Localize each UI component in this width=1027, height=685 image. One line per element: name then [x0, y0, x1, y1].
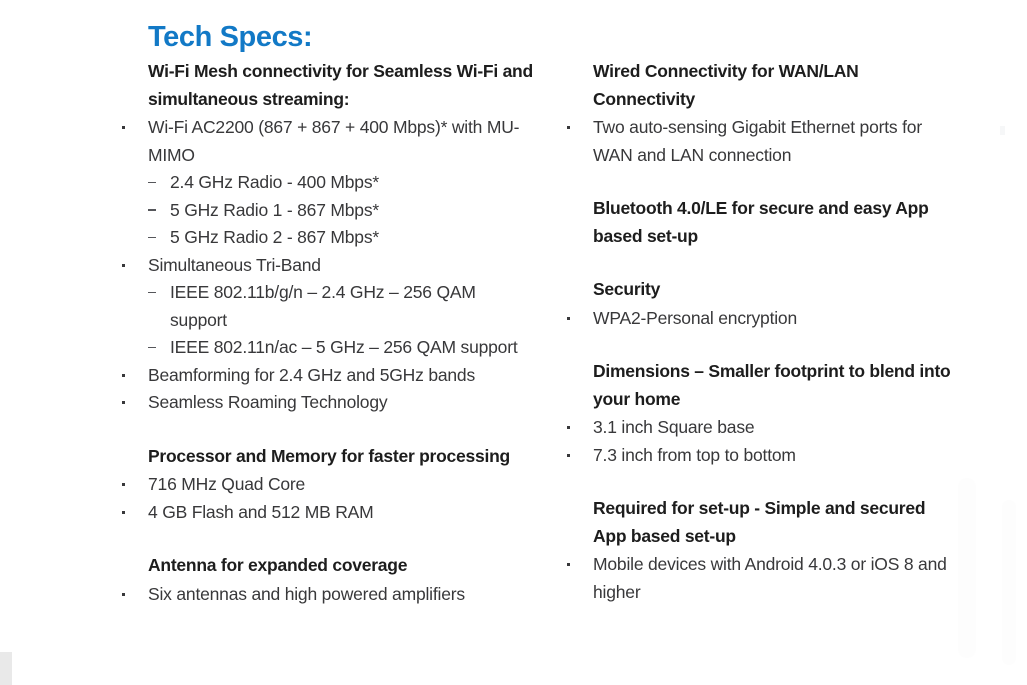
spec-block-heading: Processor and Memory for faster processi… — [148, 443, 535, 471]
spec-sub-list: IEEE 802.11b/g/n – 2.4 GHz – 256 QAM sup… — [115, 279, 535, 362]
spec-block: Processor and Memory for faster processi… — [115, 443, 535, 527]
spec-sub-list: 2.4 GHz Radio - 400 Mbps*5 GHz Radio 1 -… — [115, 169, 535, 252]
spec-block-heading: Required for set-up - Simple and secured… — [593, 495, 960, 550]
sub-list-item-label: IEEE 802.11b/g/n – 2.4 GHz – 256 QAM sup… — [170, 282, 476, 330]
spec-block-heading: Wired Connectivity for WAN/LAN Connectiv… — [593, 58, 960, 113]
sub-list-item: 5 GHz Radio 1 - 867 Mbps* — [148, 197, 535, 225]
bullet-square-icon — [122, 126, 125, 129]
list-item-label: 7.3 inch from top to bottom — [593, 445, 796, 465]
sub-list-container: IEEE 802.11b/g/n – 2.4 GHz – 256 QAM sup… — [115, 279, 535, 362]
list-item: 3.1 inch Square base — [560, 414, 960, 442]
product-silhouette-part-right — [1002, 500, 1016, 665]
sub-list-item-label: 5 GHz Radio 1 - 867 Mbps* — [170, 200, 379, 220]
list-item-label: Two auto-sensing Gigabit Ethernet ports … — [593, 117, 922, 165]
sub-list-item-label: IEEE 802.11n/ac – 5 GHz – 256 QAM suppor… — [170, 337, 518, 357]
spec-bullet-list: 716 MHz Quad Core4 GB Flash and 512 MB R… — [115, 471, 535, 526]
list-item-label: Six antennas and high powered amplifiers — [148, 584, 465, 604]
bullet-square-icon — [122, 511, 125, 514]
spec-block-heading: Security — [593, 276, 960, 304]
spec-block: Wi-Fi Mesh connectivity for Seamless Wi-… — [115, 58, 535, 417]
list-item: Simultaneous Tri-Band — [115, 252, 535, 280]
spec-bullet-list: 3.1 inch Square base7.3 inch from top to… — [560, 414, 960, 469]
list-item-label: 4 GB Flash and 512 MB RAM — [148, 502, 374, 522]
spec-block-heading: Wi-Fi Mesh connectivity for Seamless Wi-… — [148, 58, 535, 113]
bullet-dash-icon — [148, 292, 156, 294]
specs-column-left: Wi-Fi Mesh connectivity for Seamless Wi-… — [115, 58, 535, 608]
spec-block: Wired Connectivity for WAN/LAN Connectiv… — [560, 58, 960, 169]
bullet-square-icon — [122, 401, 125, 404]
list-item: Beamforming for 2.4 GHz and 5GHz bands — [115, 362, 535, 390]
sub-list-item: IEEE 802.11n/ac – 5 GHz – 256 QAM suppor… — [148, 334, 535, 362]
list-item: WPA2-Personal encryption — [560, 305, 960, 333]
spec-bullet-list: Mobile devices with Android 4.0.3 or iOS… — [560, 551, 960, 606]
sub-list-item: IEEE 802.11b/g/n – 2.4 GHz – 256 QAM sup… — [148, 279, 535, 334]
bullet-square-icon — [567, 454, 570, 457]
bullet-dash-icon — [148, 209, 156, 211]
spec-bullet-list: Wi-Fi AC2200 (867 + 867 + 400 Mbps)* wit… — [115, 114, 535, 417]
list-item-label: Mobile devices with Android 4.0.3 or iOS… — [593, 554, 947, 602]
spec-block-heading: Antenna for expanded coverage — [148, 552, 535, 580]
spec-block-heading: Dimensions – Smaller footprint to blend … — [593, 358, 960, 413]
list-item: 7.3 inch from top to bottom — [560, 442, 960, 470]
list-item: Seamless Roaming Technology — [115, 389, 535, 417]
bullet-dash-icon — [148, 347, 156, 349]
bullet-square-icon — [122, 593, 125, 596]
sub-list-container: 2.4 GHz Radio - 400 Mbps*5 GHz Radio 1 -… — [115, 169, 535, 252]
bullet-square-icon — [567, 126, 570, 129]
bullet-square-icon — [122, 264, 125, 267]
list-item: Wi-Fi AC2200 (867 + 867 + 400 Mbps)* wit… — [115, 114, 535, 169]
page-artifact-mark — [1000, 126, 1005, 135]
list-item-label: Beamforming for 2.4 GHz and 5GHz bands — [148, 365, 475, 385]
bullet-square-icon — [567, 426, 570, 429]
list-item: Two auto-sensing Gigabit Ethernet ports … — [560, 114, 960, 169]
list-item: Six antennas and high powered amplifiers — [115, 581, 535, 609]
bullet-dash-icon — [148, 182, 156, 184]
list-item-label: Seamless Roaming Technology — [148, 392, 387, 412]
spec-bullet-list: WPA2-Personal encryption — [560, 305, 960, 333]
list-item-label: 716 MHz Quad Core — [148, 474, 305, 494]
spec-block: SecurityWPA2-Personal encryption — [560, 276, 960, 332]
product-silhouette-part-left — [958, 478, 976, 658]
bullet-square-icon — [122, 374, 125, 377]
spec-bullet-list: Two auto-sensing Gigabit Ethernet ports … — [560, 114, 960, 169]
spec-block: Required for set-up - Simple and secured… — [560, 495, 960, 606]
list-item-label: Wi-Fi AC2200 (867 + 867 + 400 Mbps)* wit… — [148, 117, 519, 165]
spec-block: Antenna for expanded coverageSix antenna… — [115, 552, 535, 608]
list-item: 716 MHz Quad Core — [115, 471, 535, 499]
list-item-label: WPA2-Personal encryption — [593, 308, 797, 328]
spec-block-heading: Bluetooth 4.0/LE for secure and easy App… — [593, 195, 960, 250]
spec-block: Dimensions – Smaller footprint to blend … — [560, 358, 960, 469]
tech-specs-page: Tech Specs: Wi-Fi Mesh connectivity for … — [0, 0, 1027, 685]
specs-column-right: Wired Connectivity for WAN/LAN Connectiv… — [560, 58, 960, 606]
bullet-square-icon — [567, 317, 570, 320]
sub-list-item: 5 GHz Radio 2 - 867 Mbps* — [148, 224, 535, 252]
sub-list-item: 2.4 GHz Radio - 400 Mbps* — [148, 169, 535, 197]
bottom-left-corner-tab — [0, 652, 12, 685]
sub-list-item-label: 2.4 GHz Radio - 400 Mbps* — [170, 172, 379, 192]
list-item: Mobile devices with Android 4.0.3 or iOS… — [560, 551, 960, 606]
bullet-square-icon — [122, 483, 125, 486]
list-item-label: 3.1 inch Square base — [593, 417, 754, 437]
spec-bullet-list: Six antennas and high powered amplifiers — [115, 581, 535, 609]
list-item: 4 GB Flash and 512 MB RAM — [115, 499, 535, 527]
spec-block: Bluetooth 4.0/LE for secure and easy App… — [560, 195, 960, 250]
sub-list-item-label: 5 GHz Radio 2 - 867 Mbps* — [170, 227, 379, 247]
page-title: Tech Specs: — [148, 19, 312, 55]
bullet-dash-icon — [148, 237, 156, 239]
bullet-square-icon — [567, 563, 570, 566]
list-item-label: Simultaneous Tri-Band — [148, 255, 321, 275]
